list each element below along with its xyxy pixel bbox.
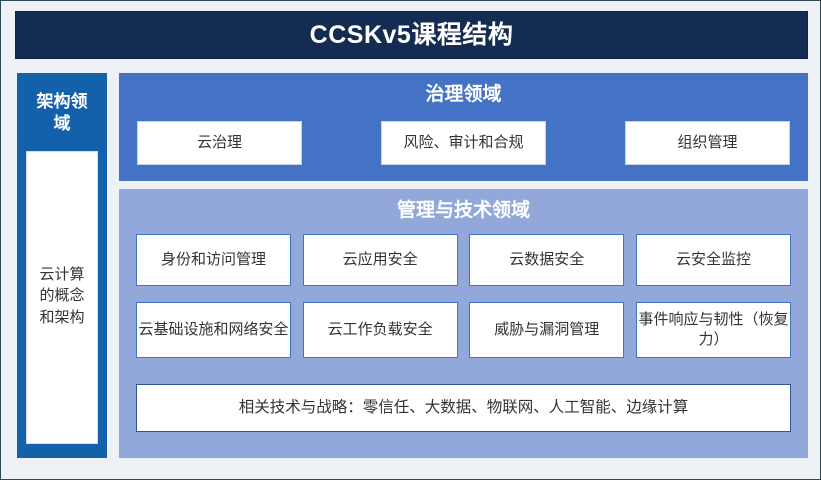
management-item-cloud-security-monitoring: 云安全监控 (636, 234, 791, 286)
management-item-label: 事件响应与韧性（恢复力） (637, 310, 790, 351)
management-item-label: 云基础设施和网络安全 (138, 320, 288, 340)
management-item-label: 威胁与漏洞管理 (494, 320, 599, 340)
management-item-cloud-data-security: 云数据安全 (469, 234, 624, 286)
management-item-label: 云安全监控 (676, 250, 751, 270)
diagram-title-bar: CCSKv5课程结构 (15, 11, 808, 59)
governance-domain-title: 治理领域 (119, 85, 808, 104)
management-item-infrastructure-network-security: 云基础设施和网络安全 (136, 302, 291, 358)
architecture-domain-item: 云计算的概念和架构 (26, 151, 98, 445)
governance-domain-panel: 治理领域 云治理 风险、审计和合规 组织管理 (119, 73, 808, 181)
management-item-cloud-application-security: 云应用安全 (303, 234, 458, 286)
related-technology-strategy-row: 相关技术与战略：零信任、大数据、物联网、人工智能、边缘计算 (136, 384, 791, 432)
management-item-label: 身份和访问管理 (161, 250, 266, 270)
management-items-row-2: 云基础设施和网络安全 云工作负载安全 威胁与漏洞管理 事件响应与韧性（恢复力） (136, 302, 791, 358)
diagram-canvas: CCSKv5课程结构 架构领域 云计算的概念和架构 治理领域 云治理 风险、审计… (0, 0, 821, 480)
management-item-label: 云数据安全 (509, 250, 584, 270)
management-item-incident-response-resilience: 事件响应与韧性（恢复力） (636, 302, 791, 358)
governance-item-label: 组织管理 (677, 133, 737, 153)
related-technology-strategy-label: 相关技术与战略：零信任、大数据、物联网、人工智能、边缘计算 (239, 398, 689, 419)
management-technology-domain-panel: 管理与技术领域 身份和访问管理 云应用安全 云数据安全 云安全监控 云基础设施和… (119, 189, 808, 458)
related-technology-strategy-box: 相关技术与战略：零信任、大数据、物联网、人工智能、边缘计算 (136, 384, 791, 432)
governance-domain-items: 云治理 风险、审计和合规 组织管理 (137, 121, 790, 165)
architecture-domain-panel: 架构领域 云计算的概念和架构 (17, 73, 107, 458)
governance-item-cloud-governance: 云治理 (137, 121, 302, 165)
management-item-identity-access: 身份和访问管理 (136, 234, 291, 286)
management-item-label: 云工作负载安全 (328, 320, 433, 340)
governance-item-organization-management: 组织管理 (625, 121, 790, 165)
governance-item-label: 云治理 (197, 133, 242, 153)
architecture-domain-title: 架构领域 (33, 91, 91, 135)
governance-item-label: 风险、审计和合规 (403, 133, 523, 153)
governance-item-risk-audit-compliance: 风险、审计和合规 (381, 121, 546, 165)
management-items-row-1: 身份和访问管理 云应用安全 云数据安全 云安全监控 (136, 234, 791, 286)
management-item-label: 云应用安全 (343, 250, 418, 270)
management-item-cloud-workload-security: 云工作负载安全 (303, 302, 458, 358)
management-technology-domain-title: 管理与技术领域 (119, 201, 808, 220)
page-title: CCSKv5课程结构 (310, 23, 514, 48)
architecture-domain-item-label: 云计算的概念和架构 (37, 265, 87, 330)
management-item-threat-vulnerability-management: 威胁与漏洞管理 (469, 302, 624, 358)
